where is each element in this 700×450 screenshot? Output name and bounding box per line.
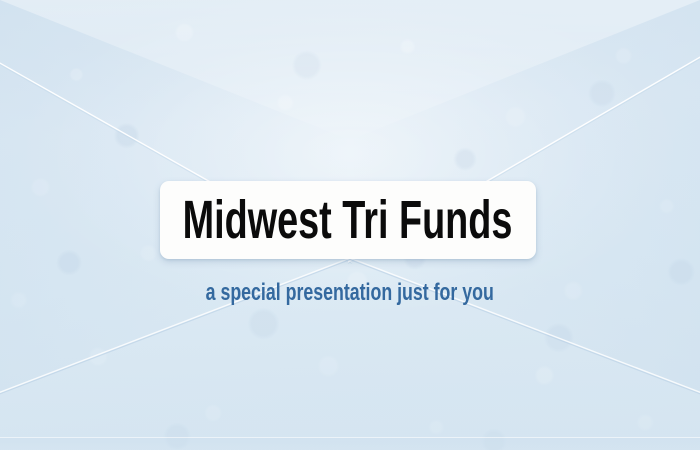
envelope-bottom-seam-shadow [0,438,700,450]
slide-subtitle: a special presentation just for you [206,281,494,305]
presentation-title-slide: Midwest Tri Funds a special presentation… [0,0,700,450]
subtitle-container: a special presentation just for you [0,281,700,305]
slide-title: Midwest Tri Funds [183,193,513,247]
title-card: Midwest Tri Funds [160,181,536,259]
